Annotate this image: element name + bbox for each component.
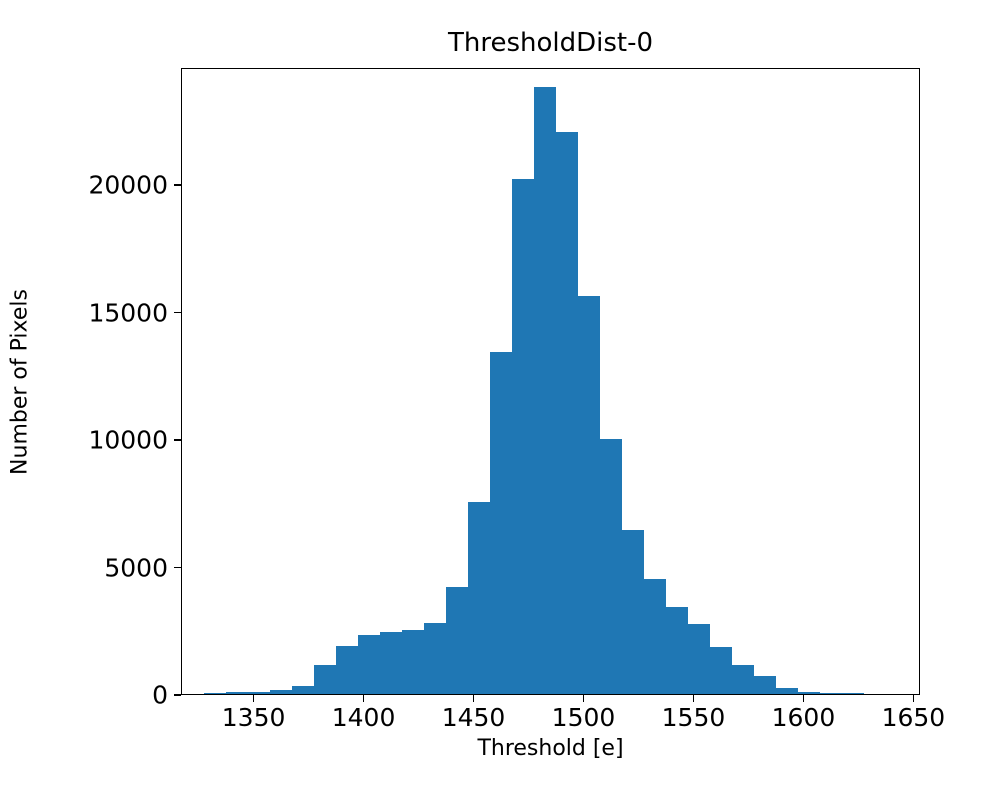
x-tick-mark xyxy=(473,695,475,702)
y-tick-mark xyxy=(174,567,181,569)
histogram-bar xyxy=(182,694,204,695)
x-tick-label: 1450 xyxy=(442,703,506,732)
histogram-bar xyxy=(644,579,666,694)
y-tick-label: 5000 xyxy=(104,553,168,582)
histogram-bar xyxy=(468,502,490,694)
histogram-bar xyxy=(490,352,512,694)
histogram-bar xyxy=(424,623,446,694)
histogram-bar xyxy=(226,692,248,694)
y-tick-label: 20000 xyxy=(88,171,168,200)
y-tick-label: 10000 xyxy=(88,426,168,455)
y-tick-label: 15000 xyxy=(88,298,168,327)
plot-area xyxy=(181,68,920,695)
x-tick-label: 1500 xyxy=(552,703,616,732)
x-tick-mark xyxy=(693,695,695,702)
y-tick-mark xyxy=(174,439,181,441)
histogram-bar xyxy=(556,132,578,694)
histogram-bar xyxy=(336,646,358,694)
histogram-bar xyxy=(270,690,292,694)
histogram-bars xyxy=(182,69,919,694)
x-tick-mark xyxy=(583,695,585,702)
histogram-bar xyxy=(820,693,842,694)
figure-canvas: ThresholdDist-0 135014001450150015501600… xyxy=(0,0,1000,800)
y-axis-label: Number of Pixels xyxy=(8,289,33,475)
histogram-bar xyxy=(688,624,710,694)
histogram-bar xyxy=(710,647,732,694)
y-tick-label: 0 xyxy=(152,681,168,710)
histogram-bar xyxy=(798,692,820,694)
histogram-bar xyxy=(754,676,776,694)
histogram-bar xyxy=(248,692,270,694)
y-tick-mark xyxy=(174,184,181,186)
histogram-bar xyxy=(776,688,798,694)
histogram-bar xyxy=(842,693,864,694)
x-tick-mark xyxy=(803,695,805,702)
page-title: ThresholdDist-0 xyxy=(181,27,920,59)
histogram-bar xyxy=(292,686,314,694)
histogram-bar xyxy=(578,296,600,694)
x-tick-label: 1350 xyxy=(222,703,286,732)
histogram-bar xyxy=(380,632,402,694)
histogram-bar xyxy=(314,665,336,694)
x-tick-label: 1650 xyxy=(882,703,946,732)
x-tick-mark xyxy=(253,695,255,702)
y-axis-label-wrap: Number of Pixels xyxy=(0,68,40,695)
x-axis-label: Threshold [e] xyxy=(181,736,920,761)
histogram-bar xyxy=(446,587,468,694)
y-tick-mark xyxy=(174,694,181,696)
x-tick-label: 1600 xyxy=(772,703,836,732)
histogram-bar xyxy=(534,87,556,694)
x-tick-label: 1400 xyxy=(332,703,396,732)
histogram-bar xyxy=(402,630,424,694)
histogram-bar xyxy=(600,439,622,694)
histogram-bar xyxy=(732,665,754,694)
histogram-bar xyxy=(358,635,380,694)
histogram-bar xyxy=(204,693,226,694)
histogram-bar xyxy=(622,530,644,694)
x-tick-label: 1550 xyxy=(662,703,726,732)
y-tick-mark xyxy=(174,312,181,314)
histogram-bar xyxy=(512,179,534,694)
x-tick-mark xyxy=(913,695,915,702)
histogram-bar xyxy=(666,607,688,694)
x-tick-mark xyxy=(363,695,365,702)
